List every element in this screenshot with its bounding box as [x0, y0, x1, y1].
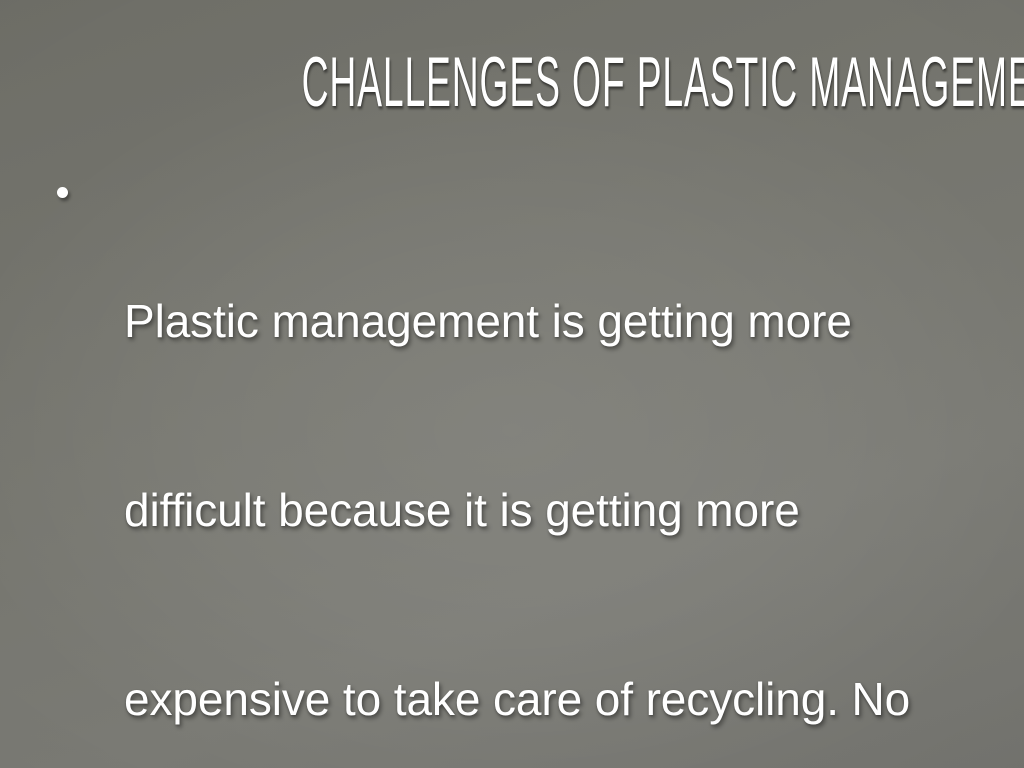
bullet-line: Plastic management is getting more: [124, 290, 946, 353]
presentation-slide: CHALLENGES OF PLASTIC MANAGEMENT Plastic…: [0, 0, 1024, 768]
bullet-text: Plastic management is getting more diffi…: [124, 164, 946, 768]
bullet-dot-icon: [57, 187, 68, 198]
page-title: CHALLENGES OF PLASTIC MANAGEMENT: [302, 46, 1024, 117]
slide-title-container: CHALLENGES OF PLASTIC MANAGEMENT: [0, 46, 1024, 112]
list-item: Plastic management is getting more diffi…: [46, 164, 946, 768]
slide-body: Plastic management is getting more diffi…: [46, 164, 946, 768]
bullet-line: expensive to take care of recycling. No: [124, 668, 946, 731]
bullet-line: difficult because it is getting more: [124, 479, 946, 542]
